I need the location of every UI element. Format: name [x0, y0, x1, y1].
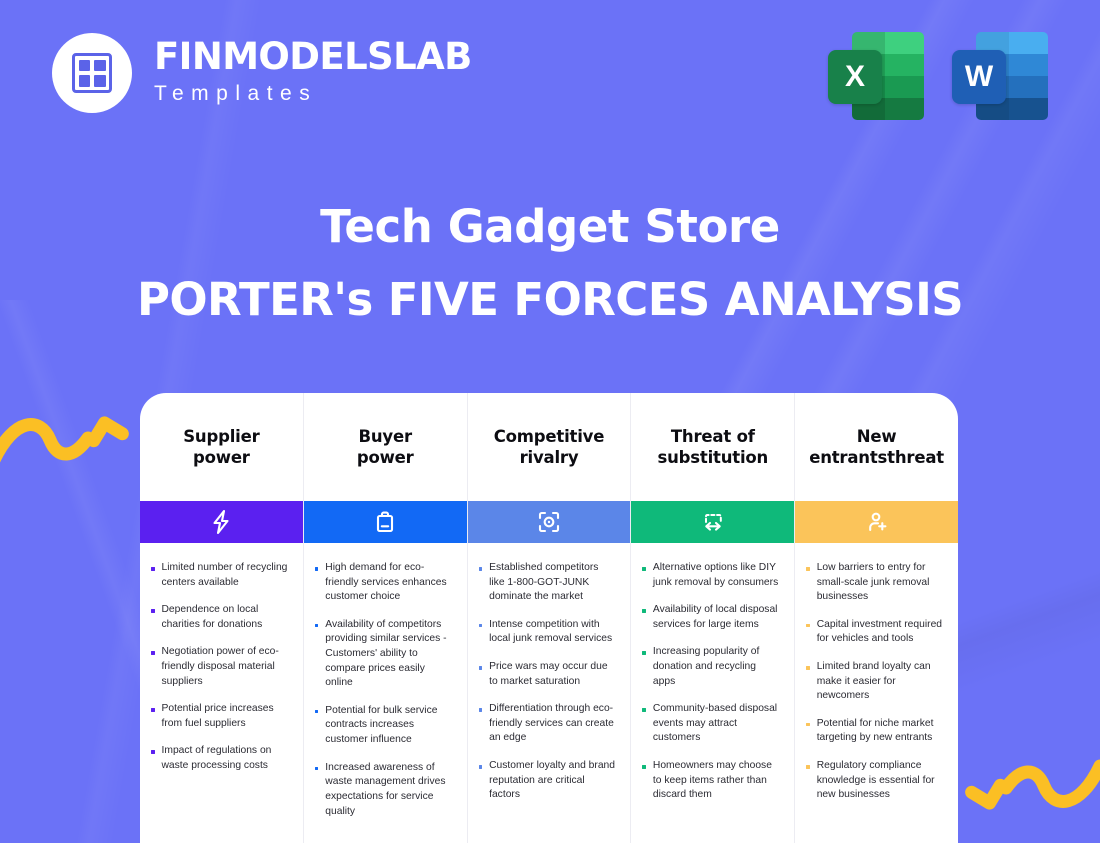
excel-icon[interactable]: X [828, 28, 924, 120]
list-item: High demand for eco-friendly services en… [315, 561, 453, 605]
column-title-line1: Buyer [358, 427, 411, 446]
logo-mark [52, 33, 132, 113]
column-title-line1: Threat of [671, 427, 755, 446]
column-title-line2: power [357, 448, 414, 467]
column-header-new-entrants-threat: New entrantsthreat [795, 393, 958, 501]
icon-bar-new-entrants-threat [795, 501, 958, 543]
column-title-line1: New [857, 427, 897, 446]
bullet-list-competitive-rivalry: Established competitors like 1-800-GOT-J… [468, 543, 631, 803]
forces-columns: Supplier power Limited number of recycli… [140, 393, 958, 843]
list-item: Dependence on local charities for donati… [151, 603, 289, 632]
column-header-threat-of-substitution: Threat of substitution [631, 393, 794, 501]
bullet-list-buyer-power: High demand for eco-friendly services en… [304, 543, 467, 819]
list-item: Increased awareness of waste management … [315, 761, 453, 819]
bullet-list-supplier-power: Limited number of recycling centers avai… [140, 543, 303, 774]
list-item: Homeowners may choose to keep items rath… [642, 759, 780, 803]
page-title: Tech Gadget Store [0, 200, 1100, 253]
list-item: Price wars may occur due to market satur… [479, 660, 617, 689]
bullet-list-threat-of-substitution: Alternative options like DIY junk remova… [631, 543, 794, 803]
format-icons: X W [828, 28, 1048, 120]
list-item: Community-based disposal events may attr… [642, 702, 780, 746]
list-item: Regulatory compliance knowledge is essen… [806, 759, 944, 803]
list-item: Potential price increases from fuel supp… [151, 702, 289, 731]
column-title-line2: power [193, 448, 250, 467]
list-item: Availability of competitors providing si… [315, 618, 453, 691]
bullet-list-new-entrants-threat: Low barriers to entry for small-scale ju… [795, 543, 958, 803]
column-title-line1: Competitive [494, 427, 604, 446]
page-subtitle: PORTER's FIVE FORCES ANALYSIS [0, 273, 1100, 326]
word-letter: W [952, 50, 1006, 104]
column-header-competitive-rivalry: Competitive rivalry [468, 393, 631, 501]
excel-letter: X [828, 50, 882, 104]
column-threat-of-substitution: Threat of substitution Alternative optio… [630, 393, 794, 843]
exchange-arrows-icon [700, 509, 726, 535]
column-title-line2: substitution [657, 448, 768, 467]
column-header-buyer-power: Buyer power [304, 393, 467, 501]
briefcase-icon [373, 509, 397, 535]
list-item: Low barriers to entry for small-scale ju… [806, 561, 944, 605]
target-focus-icon [536, 509, 562, 535]
list-item: Limited brand loyalty can make it easier… [806, 660, 944, 704]
list-item: Potential for niche market targeting by … [806, 717, 944, 746]
icon-bar-threat-of-substitution [631, 501, 794, 543]
list-item: Limited number of recycling centers avai… [151, 561, 289, 590]
column-supplier-power: Supplier power Limited number of recycli… [140, 393, 303, 843]
word-icon[interactable]: W [952, 28, 1048, 120]
porters-five-forces-table: Supplier power Limited number of recycli… [140, 393, 958, 843]
icon-bar-buyer-power [304, 501, 467, 543]
brand-tagline: Templates [154, 80, 472, 107]
list-item: Potential for bulk service contracts inc… [315, 704, 453, 748]
list-item: Customer loyalty and brand reputation ar… [479, 759, 617, 803]
grid-squares-icon [72, 53, 112, 93]
list-item: Negotiation power of eco-friendly dispos… [151, 645, 289, 689]
list-item: Impact of regulations on waste processin… [151, 744, 289, 773]
column-title-line2: entrantsthreat [809, 448, 944, 467]
lightning-bolt-icon [209, 509, 233, 535]
arrow-head-shape [956, 501, 958, 543]
column-title-line2: rivalry [520, 448, 579, 467]
list-item: Increasing popularity of donation and re… [642, 645, 780, 689]
add-user-icon [864, 509, 890, 535]
column-new-entrants-threat: New entrantsthreat Low barriers to entry… [794, 393, 958, 843]
list-item: Established competitors like 1-800-GOT-J… [479, 561, 617, 605]
brand-name: FINMODELSLAB [154, 38, 472, 77]
column-header-supplier-power: Supplier power [140, 393, 303, 501]
list-item: Differentiation through eco-friendly ser… [479, 702, 617, 746]
icon-bar-competitive-rivalry [468, 501, 631, 543]
column-title-line1: Supplier [183, 427, 259, 446]
list-item: Alternative options like DIY junk remova… [642, 561, 780, 590]
list-item: Capital investment required for vehicles… [806, 618, 944, 647]
column-competitive-rivalry: Competitive rivalry Established competit… [467, 393, 631, 843]
list-item: Availability of local disposal services … [642, 603, 780, 632]
icon-bar-supplier-power [140, 501, 303, 543]
column-buyer-power: Buyer power High demand for eco-friendly… [303, 393, 467, 843]
brand-logo: FINMODELSLAB Templates [52, 33, 472, 113]
squiggle-arrow-up-right-icon [0, 398, 132, 478]
list-item: Intense competition with local junk remo… [479, 618, 617, 647]
squiggle-arrow-down-left-icon [962, 748, 1100, 828]
